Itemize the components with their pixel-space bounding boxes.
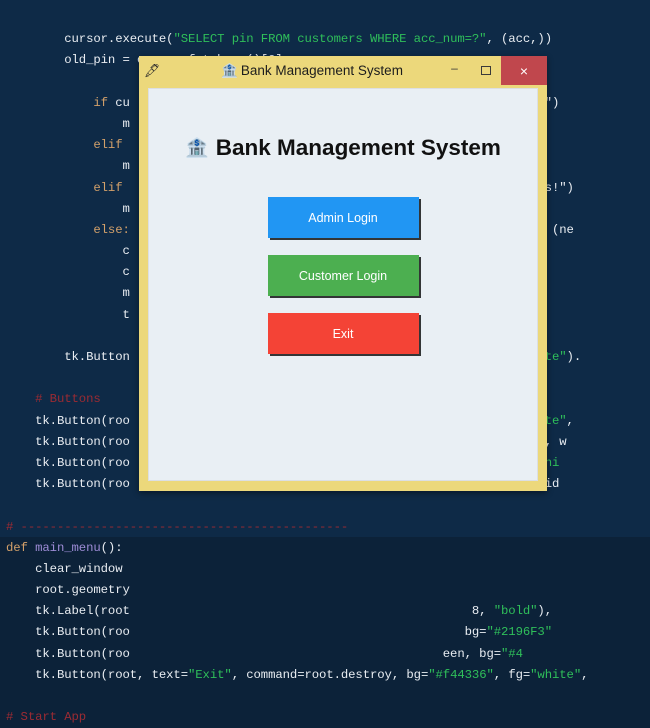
code-token: "SELECT pin FROM customers WHERE acc_num… xyxy=(173,32,486,46)
code-token: , w xyxy=(545,435,567,449)
code-token: (): xyxy=(101,541,123,555)
code-token: m xyxy=(122,159,129,173)
code-token: tk.Button(root, text= xyxy=(35,668,188,682)
code-line: tk.Button(roo bg="#2196F3" xyxy=(0,622,650,643)
page-title: 🏦Bank Management System xyxy=(149,135,537,161)
code-token: "#4 xyxy=(501,647,523,661)
code-token: , xyxy=(567,414,574,428)
window-title-text: Bank Management System xyxy=(241,63,403,78)
code-token: , fg= xyxy=(494,668,530,682)
code-line: tk.Button(root, text="Exit", command=roo… xyxy=(0,665,650,686)
code-token: else: xyxy=(93,223,129,237)
code-token: , command=root.destroy, bg= xyxy=(232,668,429,682)
code-token: "white" xyxy=(530,668,581,682)
code-token: , xyxy=(581,668,588,682)
code-token: "Exit" xyxy=(188,668,232,682)
close-button[interactable]: × xyxy=(501,56,547,85)
code-token: elif xyxy=(93,138,122,152)
code-token: , (acc,)) xyxy=(486,32,552,46)
code-line: # --------------------------------------… xyxy=(0,517,650,538)
code-line: cursor.execute("SELECT pin FROM customer… xyxy=(0,29,650,50)
code-token: cursor.execute( xyxy=(64,32,173,46)
minimize-button[interactable]: – xyxy=(439,56,470,85)
code-token: root.geometry xyxy=(35,583,130,597)
code-token: "bold" xyxy=(494,604,538,618)
bank-management-system-window: 🖋 🏦Bank Management System – × 🏦Bank Mana… xyxy=(139,56,547,491)
code-token: ), xyxy=(537,604,552,618)
customer-login-button[interactable]: Customer Login xyxy=(268,255,419,296)
feather-icon: 🖋 xyxy=(141,64,163,77)
bank-icon: 🏦 xyxy=(185,138,209,159)
code-token: m xyxy=(122,202,129,216)
code-token: # Buttons xyxy=(35,392,101,406)
code-line: def main_menu(): xyxy=(0,538,650,559)
window-content: 🏦Bank Management System Admin LoginCusto… xyxy=(148,88,538,481)
code-token: clear_window xyxy=(35,562,122,576)
window-controls: – × xyxy=(439,56,547,85)
code-token: tk.Button(roo een, bg= xyxy=(35,647,501,661)
exit-button[interactable]: Exit xyxy=(268,313,419,354)
main-menu-buttons: Admin LoginCustomer LoginExit xyxy=(149,197,537,354)
code-token: if xyxy=(93,96,115,110)
code-line xyxy=(0,8,650,29)
code-token: "#f44336" xyxy=(428,668,494,682)
code-line xyxy=(0,686,650,707)
code-line: # Start App xyxy=(0,707,650,728)
code-token: elif xyxy=(93,181,122,195)
code-token: tk.Label(root 8, xyxy=(35,604,494,618)
code-token: # Start App xyxy=(6,710,86,724)
code-line xyxy=(0,495,650,516)
code-token: # --------------------------------------… xyxy=(6,520,348,534)
code-token: tk.Button(roo bg= xyxy=(35,625,486,639)
code-token: "#2196F3" xyxy=(486,625,552,639)
code-line: root.geometry xyxy=(0,580,650,601)
code-token: t xyxy=(122,308,129,322)
window-titlebar[interactable]: 🖋 🏦Bank Management System – × xyxy=(139,56,547,85)
code-token: m xyxy=(122,286,129,300)
code-token: def xyxy=(6,541,35,555)
admin-login-button[interactable]: Admin Login xyxy=(268,197,419,238)
code-line: clear_window xyxy=(0,559,650,580)
page-title-text: Bank Management System xyxy=(216,135,501,160)
code-token: main_menu xyxy=(35,541,101,555)
code-token: ). xyxy=(567,350,582,364)
code-token: c xyxy=(122,244,129,258)
code-line: tk.Label(root 8, "bold"), xyxy=(0,601,650,622)
code-line: tk.Button(roo een, bg="#4 xyxy=(0,644,650,665)
bank-icon: 🏦 xyxy=(221,63,238,78)
maximize-button[interactable] xyxy=(470,56,501,85)
